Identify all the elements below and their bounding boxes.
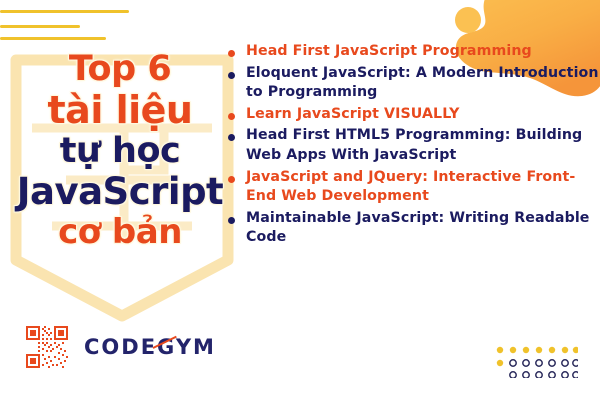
title-line-3: tự học: [0, 134, 240, 169]
list-item: Learn JavaScript VISUALLY: [228, 105, 600, 125]
title-line-1: Top 6: [0, 52, 240, 87]
book-title: JavaScript and JQuery: Interactive Front…: [246, 168, 600, 207]
codegym-wordmark: CODEGYM: [84, 337, 216, 358]
title-line-5: cơ bản: [0, 215, 240, 249]
list-item: Maintainable JavaScript: Writing Readabl…: [228, 209, 600, 248]
title-line-2: tài liệu: [0, 91, 240, 129]
list-item: Eloquent JavaScript: A Modern Introducti…: [228, 64, 600, 103]
poster-title: Top 6 tài liệu tự học JavaScript cơ bản: [0, 52, 240, 249]
qr-code-icon: [26, 326, 68, 368]
bullet-icon: [228, 176, 235, 183]
poster-canvas: Top 6 tài liệu tự học JavaScript cơ bản: [0, 0, 600, 400]
decor-rule-long: [0, 10, 129, 13]
decor-dot-grid: [494, 344, 578, 378]
bullet-icon: [228, 134, 235, 141]
book-title: Head First HTML5 Programming: Building W…: [246, 126, 600, 165]
book-list: Head First JavaScript Programming Eloque…: [228, 42, 600, 250]
book-title: Maintainable JavaScript: Writing Readabl…: [246, 209, 600, 248]
bullet-icon: [228, 113, 235, 120]
book-title: Eloquent JavaScript: A Modern Introducti…: [246, 64, 600, 103]
codegym-wordmark-text: CODEGYM: [84, 335, 216, 359]
bullet-icon: [228, 217, 235, 224]
decor-rule-medium: [0, 37, 106, 40]
bullet-icon: [228, 50, 235, 57]
title-line-4: JavaScript: [0, 173, 240, 210]
brand-row: CODEGYM: [26, 326, 216, 368]
decor-rule-short: [0, 25, 80, 28]
book-title: Learn JavaScript VISUALLY: [246, 105, 600, 125]
book-title: Head First JavaScript Programming: [246, 42, 600, 62]
bullet-icon: [228, 72, 235, 79]
list-item: JavaScript and JQuery: Interactive Front…: [228, 168, 600, 207]
list-item: Head First HTML5 Programming: Building W…: [228, 126, 600, 165]
list-item: Head First JavaScript Programming: [228, 42, 600, 62]
